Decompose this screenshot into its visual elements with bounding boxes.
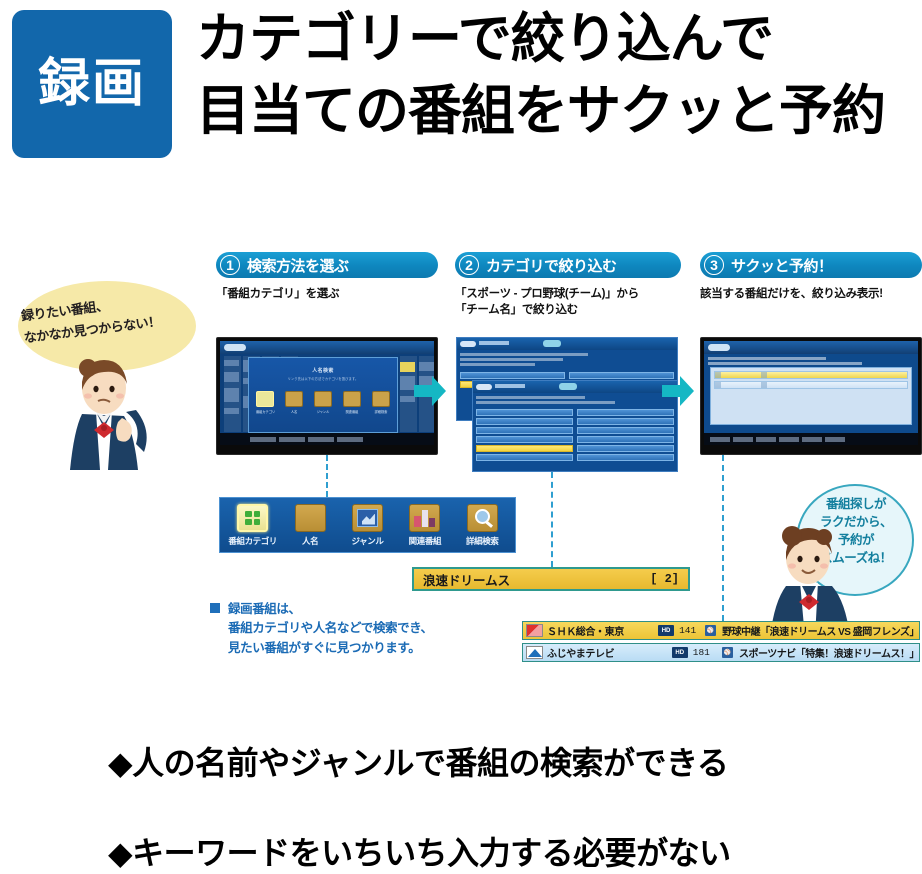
- magnifier-icon: [372, 391, 390, 407]
- dialog-icon-category[interactable]: 番組カテゴリ: [256, 391, 274, 414]
- team-window-front: [472, 380, 678, 472]
- note-line-1: 録画番組は、: [228, 600, 433, 619]
- dialog-icon-detail[interactable]: 詳細検索: [372, 391, 390, 414]
- result-titlebar: [704, 341, 918, 354]
- program-channel-2: ふじやまテレビ: [547, 645, 672, 660]
- feature-bullet-1: ◆人の名前やジャンルで番組の検索ができる: [108, 738, 908, 784]
- step-2: 2 カテゴリで絞り込む 「スポーツ - プロ野球(チーム)」から 「チーム名」で…: [455, 252, 681, 319]
- feature-bullet-2: ◆キーワードをいちいち入力する必要がない: [108, 828, 908, 874]
- step-1-title: 検索方法を選ぶ: [247, 255, 349, 276]
- magnifier-icon: [467, 504, 498, 532]
- icon-label-program-category: 番組カテゴリ: [226, 535, 280, 547]
- shk-logo-icon: [526, 624, 543, 637]
- dialog-icon-person[interactable]: 人名: [285, 391, 303, 414]
- dialog-category-icons: 番組カテゴリ 人名 ジャンル 関連番組 詳細検索: [256, 391, 390, 414]
- genre-icon: [314, 391, 332, 407]
- result-row-1[interactable]: [714, 371, 908, 379]
- dialog-icon-related[interactable]: 関連番組: [343, 391, 361, 414]
- connector-step3-to-programs: [722, 455, 724, 621]
- selected-team-bar[interactable]: 浪速ドリームス [ 2]: [412, 567, 690, 591]
- feature-bullets: ◆人の名前やジャンルで番組の検索ができる ◆キーワードをいちいち入力する必要がな…: [108, 738, 908, 874]
- step-3-header: 3 サクッと予約！: [700, 252, 922, 278]
- step-1-subtitle: 「番組カテゴリ」を選ぶ: [216, 286, 438, 302]
- tv-screenshot-step3: [700, 337, 922, 455]
- tv-screen-1: 人名検索 リンク先は以下の方法でカテゴリを選びます。 番組カテゴリ 人名 ジャン…: [220, 341, 434, 445]
- arrow-step2-to-step3: [660, 374, 696, 408]
- step-1-number: 1: [220, 255, 240, 275]
- icon-label-person-name: 人名: [283, 535, 337, 547]
- dialog-icon-genre[interactable]: ジャンル: [314, 391, 332, 414]
- category-grid-icon: [237, 504, 268, 532]
- tv-screen-3: [704, 341, 918, 445]
- arrow-step1-to-step2: [412, 374, 448, 408]
- filtered-results-list: [710, 367, 912, 425]
- step-1-header: 1 検索方法を選ぶ: [216, 252, 438, 278]
- step-3-sub-line-1: 該当する番組だけを、絞り込み表示!: [700, 286, 922, 302]
- result-logo-pill: [708, 344, 730, 351]
- explanatory-note: 録画番組は、 番組カテゴリや人名などで検索でき、 見たい番組がすぐに見つかります…: [210, 600, 510, 658]
- step-2-sub-line-1: 「スポーツ - プロ野球(チーム)」から: [455, 286, 681, 302]
- recording-badge-label: 録画: [38, 58, 146, 110]
- channel-number-1: 141: [679, 625, 705, 636]
- step-3: 3 サクッと予約！ 該当する番組だけを、絞り込み表示!: [700, 252, 922, 302]
- step-3-subtitle: 該当する番組だけを、絞り込み表示!: [700, 286, 922, 302]
- step-1-sub-line-1: 「番組カテゴリ」を選ぶ: [216, 286, 438, 302]
- genre-icon: [352, 504, 383, 532]
- dialog-icon-label-1: 人名: [285, 409, 303, 414]
- step-2-title: カテゴリで絞り込む: [486, 255, 617, 276]
- dialog-icon-label-0: 番組カテゴリ: [256, 409, 274, 414]
- step-2-number: 2: [459, 255, 479, 275]
- headline-line-1: カテゴリーで絞り込んで: [196, 4, 922, 76]
- step-2-subtitle: 「スポーツ - プロ野球(チーム)」から 「チーム名」で絞り込む: [455, 286, 681, 319]
- recording-badge: 録画: [12, 10, 172, 158]
- sports-icon: ⚾: [705, 625, 716, 636]
- team-name-label: 浪速ドリームス: [423, 570, 510, 589]
- right-bubble-line-1: 番組探しが: [800, 495, 912, 513]
- dialog-icon-label-3: 関連番組: [343, 409, 361, 414]
- dialog-subtitle: リンク先は以下の方法でカテゴリを選びます。: [249, 376, 397, 381]
- icon-button-detailed-search[interactable]: 詳細検索: [455, 504, 509, 547]
- program-row-2[interactable]: ふじやまテレビ HD 181 ⚾ スポーツナビ「特集！浪速ドリームス！」: [522, 643, 920, 662]
- related-programs-icon: [343, 391, 361, 407]
- icon-label-genre: ジャンル: [340, 535, 394, 547]
- bullet-square-icon: [210, 603, 220, 613]
- epg-logo-pill: [224, 344, 246, 351]
- note-line-3: 見たい番組がすぐに見つかります。: [228, 639, 433, 658]
- program-channel-1: ＳＨＫ総合・東京: [547, 623, 658, 638]
- window-body-2: [473, 393, 677, 466]
- result-row-2[interactable]: [714, 381, 908, 389]
- related-programs-icon: [409, 504, 440, 532]
- tv-screenshot-step1: 人名検索 リンク先は以下の方法でカテゴリを選びます。 番組カテゴリ 人名 ジャン…: [216, 337, 438, 455]
- sports-icon: ⚾: [722, 647, 733, 658]
- program-title-1: 野球中継「浪速ドリームス VS 盛岡フレンズ」: [722, 623, 919, 638]
- program-title-2: スポーツナビ「特集！浪速ドリームス！」: [739, 645, 919, 660]
- icon-label-related-programs: 関連番組: [398, 535, 452, 547]
- dialog-icon-label-2: ジャンル: [314, 409, 332, 414]
- person-icon: [295, 504, 326, 532]
- icon-button-program-category[interactable]: 番組カテゴリ: [226, 504, 280, 547]
- page-header: 録画 カテゴリーで絞り込んで 目当ての番組をサクッと予約: [0, 0, 922, 180]
- window-titlebar-1: [457, 338, 677, 350]
- headline-line-2: 目当ての番組をサクッと予約: [196, 76, 922, 148]
- window-titlebar-2: [473, 381, 677, 393]
- dialog-title: 人名検索: [249, 367, 397, 374]
- step-2-header: 2 カテゴリで絞り込む: [455, 252, 681, 278]
- fujiyama-logo-icon: [526, 646, 543, 659]
- step-1: 1 検索方法を選ぶ 「番組カテゴリ」を選ぶ: [216, 252, 438, 302]
- person-icon: [285, 391, 303, 407]
- selected-team-row[interactable]: [476, 445, 573, 452]
- team-result-count: [ 2]: [650, 572, 679, 586]
- icon-button-person-name[interactable]: 人名: [283, 504, 337, 547]
- icon-label-detailed-search: 詳細検索: [455, 535, 509, 547]
- icon-button-genre[interactable]: ジャンル: [340, 504, 394, 547]
- dialog-icon-label-4: 詳細検索: [372, 409, 390, 414]
- category-icon-row: 番組カテゴリ 人名 ジャンル 関連番組 詳細検索: [219, 497, 516, 553]
- result-footer-bar: [704, 433, 918, 445]
- epg-titlebar: [220, 341, 434, 354]
- page-title: カテゴリーで絞り込んで 目当ての番組をサクッと予約: [196, 4, 922, 148]
- connector-step2-to-teambar: [551, 472, 553, 567]
- step-3-number: 3: [704, 255, 724, 275]
- program-row-1[interactable]: ＳＨＫ総合・東京 HD 141 ⚾ 野球中継「浪速ドリームス VS 盛岡フレンズ…: [522, 621, 920, 640]
- connector-step1-to-icons: [326, 455, 328, 497]
- hd-badge-2: HD: [672, 647, 688, 658]
- tv-footer-bar: [220, 433, 434, 445]
- search-method-dialog: 人名検索 リンク先は以下の方法でカテゴリを選びます。 番組カテゴリ 人名 ジャン…: [248, 357, 398, 433]
- step-2-sub-line-2: 「チーム名」で絞り込む: [455, 302, 681, 318]
- note-line-2: 番組カテゴリや人名などで検索でき、: [228, 619, 433, 638]
- step-3-title: サクッと予約！: [731, 255, 833, 276]
- category-grid-icon: [256, 391, 274, 407]
- icon-button-related-programs[interactable]: 関連番組: [398, 504, 452, 547]
- hd-badge-1: HD: [658, 625, 674, 636]
- channel-number-2: 181: [693, 647, 722, 658]
- worried-woman-illustration: [52, 352, 156, 470]
